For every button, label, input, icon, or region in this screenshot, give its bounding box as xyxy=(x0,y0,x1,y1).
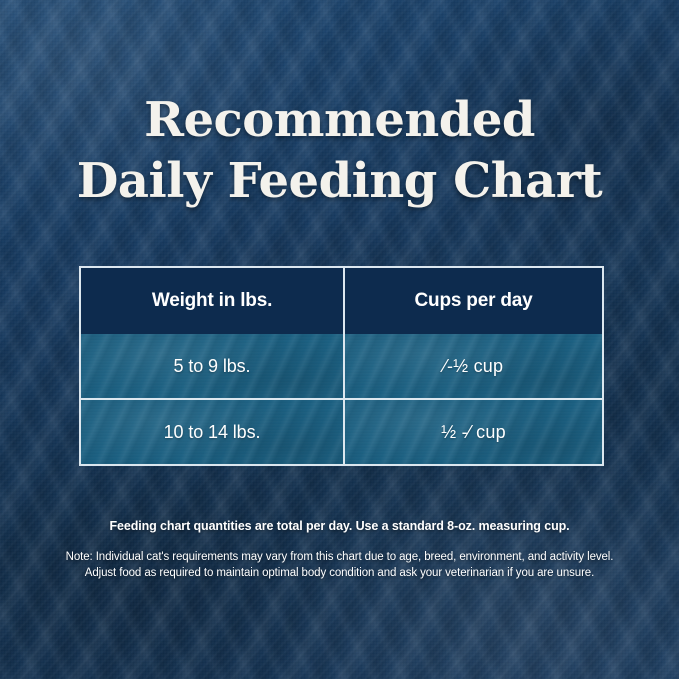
footer-note-line-2: Adjust food as required to maintain opti… xyxy=(0,565,679,581)
cell-weight-range-2: 10 to 14 lbs. xyxy=(81,400,343,464)
table-row: 5 to 9 lbs. ⁄-½ cup xyxy=(81,334,602,398)
feeding-chart-table: Weight in lbs. Cups per day 5 to 9 lbs. … xyxy=(79,266,604,466)
table-row: 10 to 14 lbs. ½ -⁄ cup xyxy=(81,398,602,464)
footer-note: Note: Individual cat's requirements may … xyxy=(0,549,679,581)
column-header-cups: Cups per day xyxy=(343,268,602,334)
cell-weight-range-1: 5 to 9 lbs. xyxy=(81,334,343,398)
feeding-chart-poster: Recommended Daily Feeding Chart Weight i… xyxy=(0,0,679,679)
table-header-row: Weight in lbs. Cups per day xyxy=(81,268,602,334)
footer-note-line-1: Note: Individual cat's requirements may … xyxy=(0,549,679,565)
footer-emphasis-text: Feeding chart quantities are total per d… xyxy=(0,519,679,533)
page-title-line-1: Recommended xyxy=(0,96,679,145)
cell-cups-amount-2: ½ -⁄ cup xyxy=(343,400,602,464)
page-title-line-2: Daily Feeding Chart xyxy=(0,157,679,206)
column-header-weight: Weight in lbs. xyxy=(81,268,343,334)
cell-cups-amount-1: ⁄-½ cup xyxy=(343,334,602,398)
page-title: Recommended Daily Feeding Chart xyxy=(0,96,679,206)
